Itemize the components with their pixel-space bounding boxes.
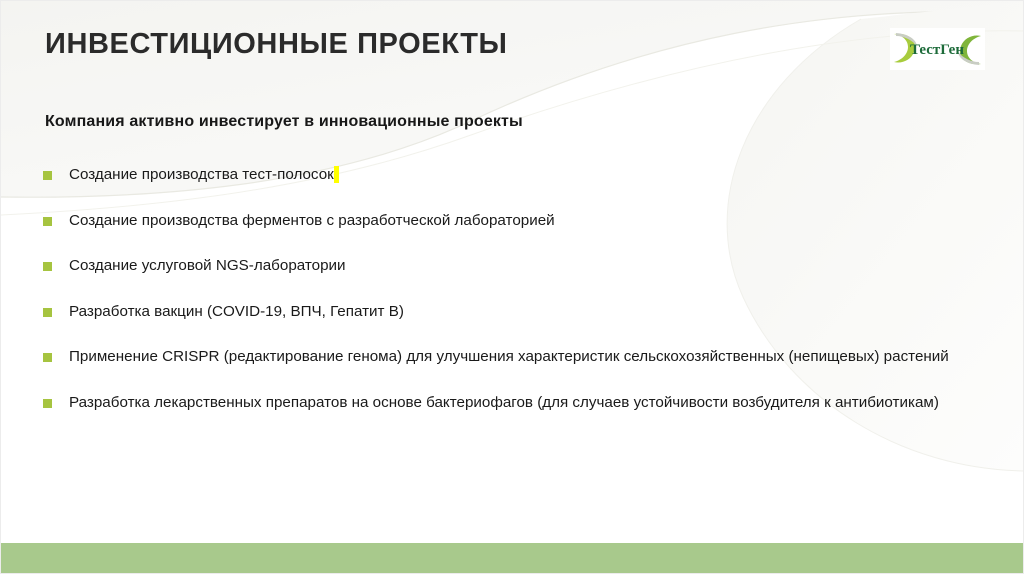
bullet-square-icon [43,353,52,362]
list-item-text: Создание производства ферментов с разраб… [69,212,555,229]
slide-header: ИНВЕСТИЦИОННЫЕ ПРОЕКТЫ [45,29,845,61]
list-item-text: Применение CRISPR (редактирование генома… [69,348,949,365]
bullet-square-icon [43,399,52,408]
list-item-text: Создание услуговой NGS-лаборатории [69,257,346,274]
company-logo: ТестГен [890,28,985,70]
logo-wordmark: ТестГен [910,42,964,58]
bullet-square-icon [43,171,52,180]
list-item-text: Разработка лекарственных препаратов на о… [69,394,939,411]
list-item: Создание производства тест-полосок [41,164,991,187]
testgen-logo-icon: ТестГен [890,28,985,70]
list-item: Разработка вакцин (COVID-19, ВПЧ, Гепати… [41,301,991,324]
list-item: Создание производства ферментов с разраб… [41,210,991,233]
text-highlight-marker [334,166,339,183]
list-item: Разработка лекарственных препаратов на о… [41,392,991,415]
list-item-text: Создание производства тест-полосок [69,166,334,183]
list-item: Создание услуговой NGS-лаборатории [41,255,991,278]
page-title: ИНВЕСТИЦИОННЫЕ ПРОЕКТЫ [45,29,845,61]
bullet-square-icon [43,308,52,317]
slide-subtitle: Компания активно инвестирует в инновацио… [45,113,523,131]
list-item: Применение CRISPR (редактирование генома… [41,346,991,369]
list-item-text: Разработка вакцин (COVID-19, ВПЧ, Гепати… [69,303,404,320]
bullet-square-icon [43,262,52,271]
footer-band [1,543,1023,574]
presentation-slide: ИНВЕСТИЦИОННЫЕ ПРОЕКТЫ ТестГен Компания … [0,0,1024,574]
bullet-square-icon [43,217,52,226]
investment-projects-list: Создание производства тест-полосок Созда… [41,164,991,414]
